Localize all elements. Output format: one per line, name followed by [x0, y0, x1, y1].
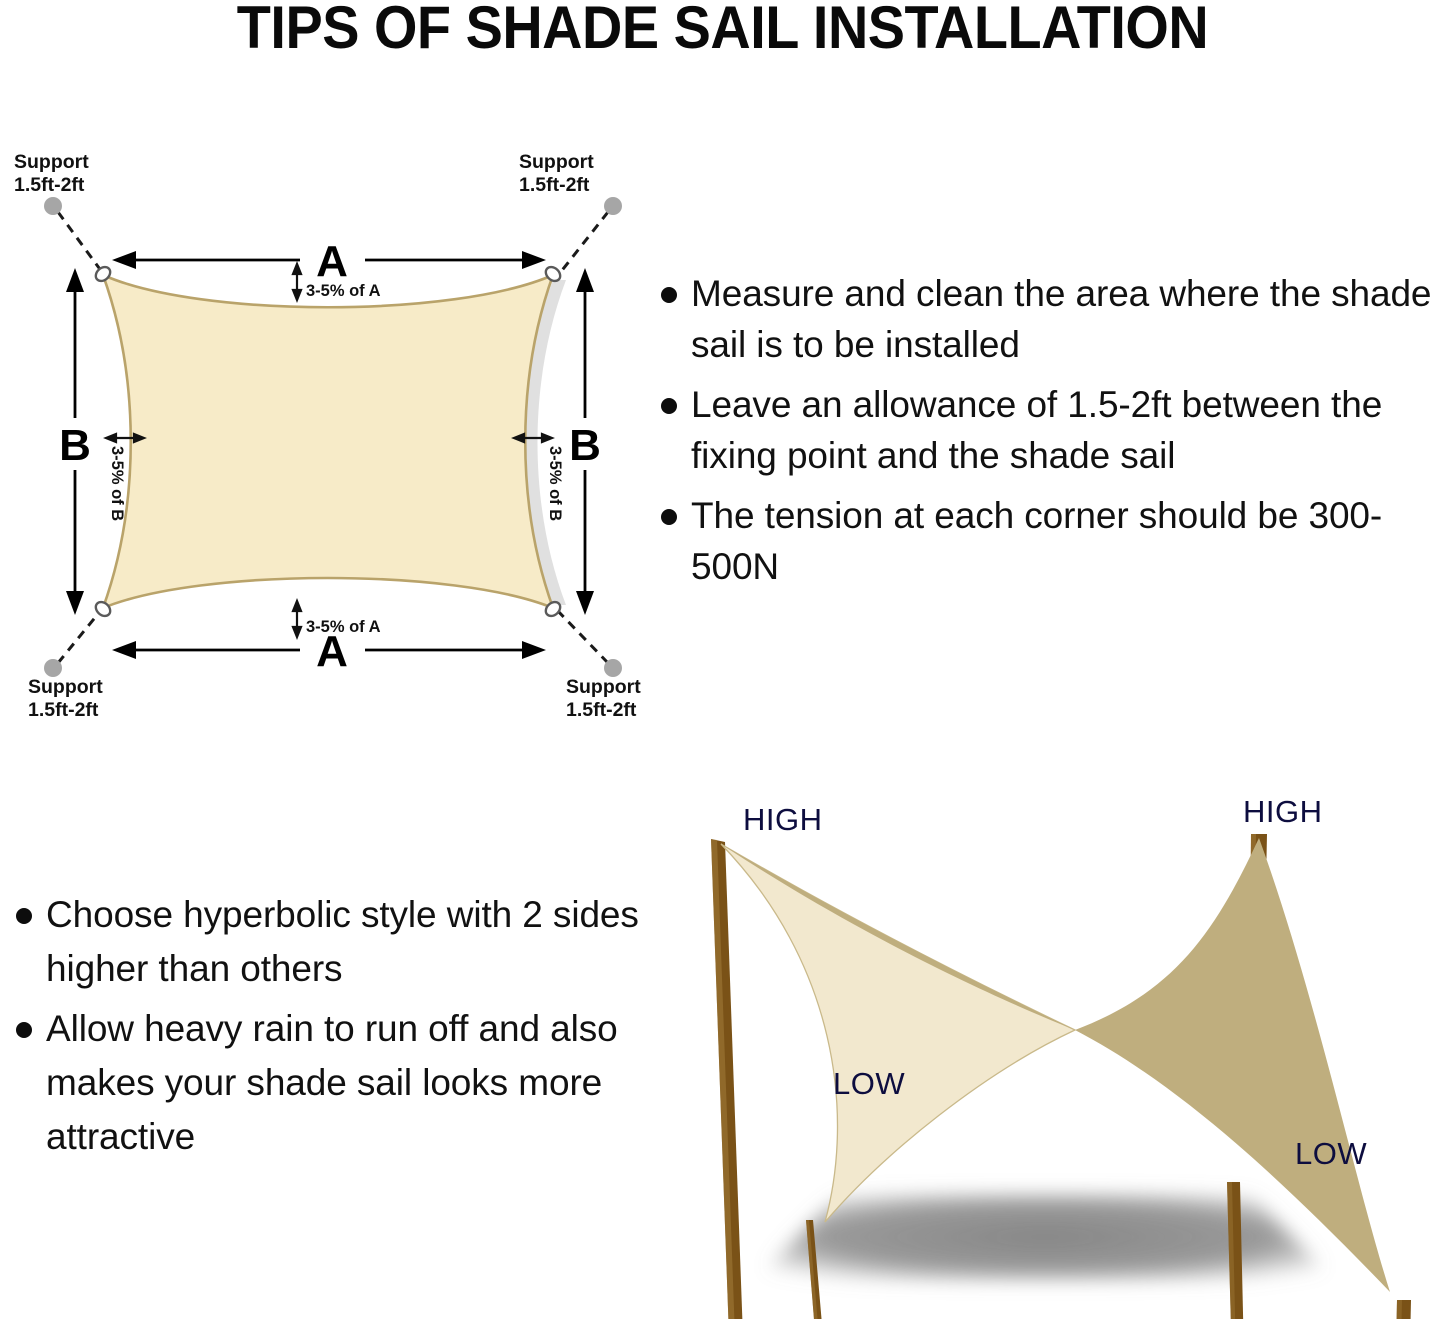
arrowhead-B-right-top — [576, 268, 594, 292]
post-low-right-highlight — [1393, 1300, 1402, 1319]
tick-head-top-down — [293, 290, 301, 300]
tick-head-left-a — [106, 434, 116, 442]
post-high-left — [711, 839, 751, 1319]
tick-head-bottom-down — [293, 627, 301, 637]
support-label-bottom-right-line1: Support — [566, 676, 641, 698]
bottom-tips-container: Choose hyperbolic style with 2 sides hig… — [0, 888, 640, 1170]
post-low-right — [1393, 1300, 1411, 1319]
support-label-top-right-line1: Support — [519, 151, 594, 173]
arrowhead-A-top-right — [522, 251, 546, 269]
top-tips-list: Measure and clean the area where the sha… — [645, 268, 1445, 592]
post-low-right-body — [1393, 1300, 1411, 1319]
support-label-top-left-line2: 1.5ft-2ft — [14, 174, 85, 196]
arrowhead-B-right-bottom — [576, 591, 594, 615]
tip-text: Leave an allowance of 1.5-2ft between th… — [691, 384, 1382, 476]
support-label-bottom-left-line1: Support — [28, 676, 103, 698]
infographic-page: TIPS OF SHADE SAIL INSTALLATION — [0, 0, 1445, 1319]
list-item: Measure and clean the area where the sha… — [645, 268, 1445, 370]
bottom-tips-list: Choose hyperbolic style with 2 sides hig… — [0, 888, 640, 1164]
list-item: Choose hyperbolic style with 2 sides hig… — [0, 888, 640, 996]
tip-text: The tension at each corner should be 300… — [691, 495, 1382, 587]
support-label-bottom-left-line2: 1.5ft-2ft — [28, 699, 99, 721]
arrowhead-B-left-bottom — [66, 591, 84, 615]
post-label-high-left: HIGH — [743, 802, 823, 837]
support-label-top-left-line1: Support — [14, 151, 89, 173]
shadow-shape — [755, 1194, 1335, 1280]
support-dot-bottom-right — [604, 659, 622, 677]
arrowhead-B-left-top — [66, 268, 84, 292]
dimension-label-B-left: B — [59, 421, 91, 470]
dimension-label-B-right: B — [569, 421, 601, 470]
rectangular-sail-svg: A A B B 3-5% of A 3-5% of A 3-5% of B 3-… — [0, 150, 660, 730]
support-line-top-left — [58, 212, 102, 272]
top-tips-container: Measure and clean the area where the sha… — [645, 268, 1445, 601]
curvature-label-bottom: 3-5% of A — [306, 618, 381, 636]
tick-head-bottom-up — [293, 601, 301, 611]
curvature-label-left: 3-5% of B — [108, 446, 126, 521]
support-dot-top-right — [604, 197, 622, 215]
list-item: The tension at each corner should be 300… — [645, 490, 1445, 592]
dimension-label-A-top: A — [316, 237, 348, 286]
tip-text: Choose hyperbolic style with 2 sides hig… — [46, 894, 639, 989]
support-line-top-right — [556, 212, 608, 278]
post-label-high-right: HIGH — [1243, 794, 1323, 829]
support-line-bottom-right — [556, 609, 608, 663]
support-dot-bottom-left — [44, 659, 62, 677]
arrowhead-A-bottom-left — [112, 641, 136, 659]
bullet-dot-icon — [16, 908, 32, 924]
top-left-diagram-container: A A B B 3-5% of A 3-5% of A 3-5% of B 3-… — [0, 150, 660, 730]
tip-text: Allow heavy rain to run off and also mak… — [46, 1008, 618, 1157]
sail-light-lobe — [721, 844, 1075, 1222]
tick-head-top-up — [293, 264, 301, 274]
list-item: Allow heavy rain to run off and also mak… — [0, 1002, 640, 1164]
tip-text: Measure and clean the area where the sha… — [691, 273, 1431, 365]
bullet-dot-icon — [661, 398, 677, 414]
hyperbolic-sail-svg: HIGH HIGH LOW LOW — [655, 782, 1445, 1319]
ground-shadow — [755, 1194, 1335, 1280]
curvature-label-right: 3-5% of B — [546, 446, 564, 521]
support-label-top-right-line2: 1.5ft-2ft — [519, 174, 590, 196]
shade-sail-shape — [103, 275, 553, 608]
page-title: TIPS OF SHADE SAIL INSTALLATION — [51, 0, 1395, 59]
post-label-low-right: LOW — [1295, 1136, 1367, 1171]
support-dot-top-left — [44, 197, 62, 215]
arrowhead-A-top-left — [112, 251, 136, 269]
bullet-dot-icon — [661, 287, 677, 303]
list-item: Leave an allowance of 1.5-2ft between th… — [645, 379, 1445, 481]
bullet-dot-icon — [661, 509, 677, 525]
support-line-bottom-left — [58, 609, 102, 663]
tick-head-right-b — [542, 434, 552, 442]
curvature-label-top: 3-5% of A — [306, 282, 381, 300]
bullet-dot-icon — [16, 1022, 32, 1038]
bottom-right-diagram-container: HIGH HIGH LOW LOW — [655, 782, 1445, 1319]
arrowhead-A-bottom-right — [522, 641, 546, 659]
support-label-bottom-right-line2: 1.5ft-2ft — [566, 699, 637, 721]
post-label-low-left: LOW — [833, 1066, 905, 1101]
